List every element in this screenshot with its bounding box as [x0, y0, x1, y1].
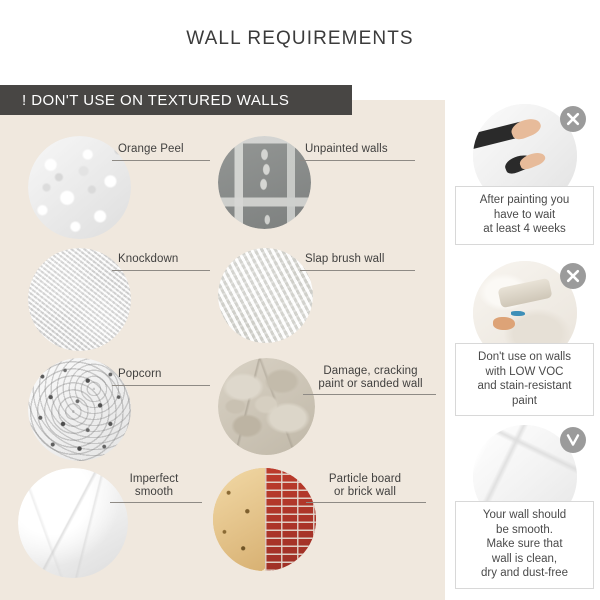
damaged-wall-texture: [218, 358, 315, 455]
texture-cell-unpainted-walls: Unpainted walls: [218, 136, 418, 246]
texture-label: Popcorn: [118, 368, 162, 381]
imperfect-smooth-swatch: [18, 468, 128, 578]
texture-label: Particle board or brick wall: [306, 473, 424, 498]
texture-label: Imperfect smooth: [113, 473, 195, 498]
tip-text: Don't use on walls with LOW VOC and stai…: [455, 343, 594, 416]
texture-cell-orange-peel: Orange Peel: [28, 136, 218, 246]
popcorn-texture: [28, 358, 131, 461]
particle-board-brick-texture: [213, 468, 316, 571]
texture-label-rule: [112, 160, 210, 161]
orange-peel-swatch: [28, 136, 131, 239]
slap-brush-wall-swatch: [218, 248, 313, 343]
texture-label-rule: [110, 502, 202, 503]
tip-text: After painting you have to wait at least…: [455, 186, 594, 245]
damaged-wall-swatch: [218, 358, 315, 455]
texture-label-rule: [306, 502, 426, 503]
texture-label-rule: [300, 270, 415, 271]
texture-grid: Orange Peel Unpainted walls Knockdown Sl…: [0, 100, 445, 600]
texture-label-rule: [112, 270, 210, 271]
unpainted-walls-swatch: [218, 136, 311, 229]
texture-label-rule: [303, 394, 436, 395]
particle-board-half: [213, 468, 265, 571]
particle-board-brick-swatch: [213, 468, 316, 571]
texture-label-rule: [300, 160, 415, 161]
page-title: WALL REQUIREMENTS: [0, 28, 600, 50]
x-mark-icon: [560, 106, 586, 132]
texture-label: Unpainted walls: [305, 143, 388, 156]
texture-cell-knockdown: Knockdown: [28, 248, 218, 358]
texture-label: Orange Peel: [118, 143, 184, 156]
texture-cell-imperfect-smooth: Imperfect smooth: [18, 468, 218, 586]
knockdown-swatch: [28, 248, 131, 351]
popcorn-swatch: [28, 358, 131, 461]
texture-cell-damaged-wall: Damage, cracking paint or sanded wall: [218, 358, 428, 470]
slap-brush-wall-texture: [218, 248, 313, 343]
knockdown-texture: [28, 248, 131, 351]
check-mark-icon: [560, 427, 586, 453]
unpainted-walls-texture: [218, 136, 311, 229]
orange-peel-texture: [28, 136, 131, 239]
texture-label: Damage, cracking paint or sanded wall: [303, 365, 438, 390]
texture-label: Slap brush wall: [305, 253, 384, 266]
imperfect-smooth-texture: [18, 468, 128, 578]
texture-cell-particle-board-brick: Particle board or brick wall: [213, 468, 428, 586]
tip-text: Your wall should be smooth. Make sure th…: [455, 501, 594, 589]
texture-cell-slap-brush-wall: Slap brush wall: [218, 248, 418, 358]
texture-cell-popcorn: Popcorn: [28, 358, 218, 470]
infographic-root: WALL REQUIREMENTS ! DON'T USE ON TEXTURE…: [0, 0, 600, 600]
texture-label: Knockdown: [118, 253, 178, 266]
x-mark-icon: [560, 263, 586, 289]
texture-label-rule: [112, 385, 210, 386]
